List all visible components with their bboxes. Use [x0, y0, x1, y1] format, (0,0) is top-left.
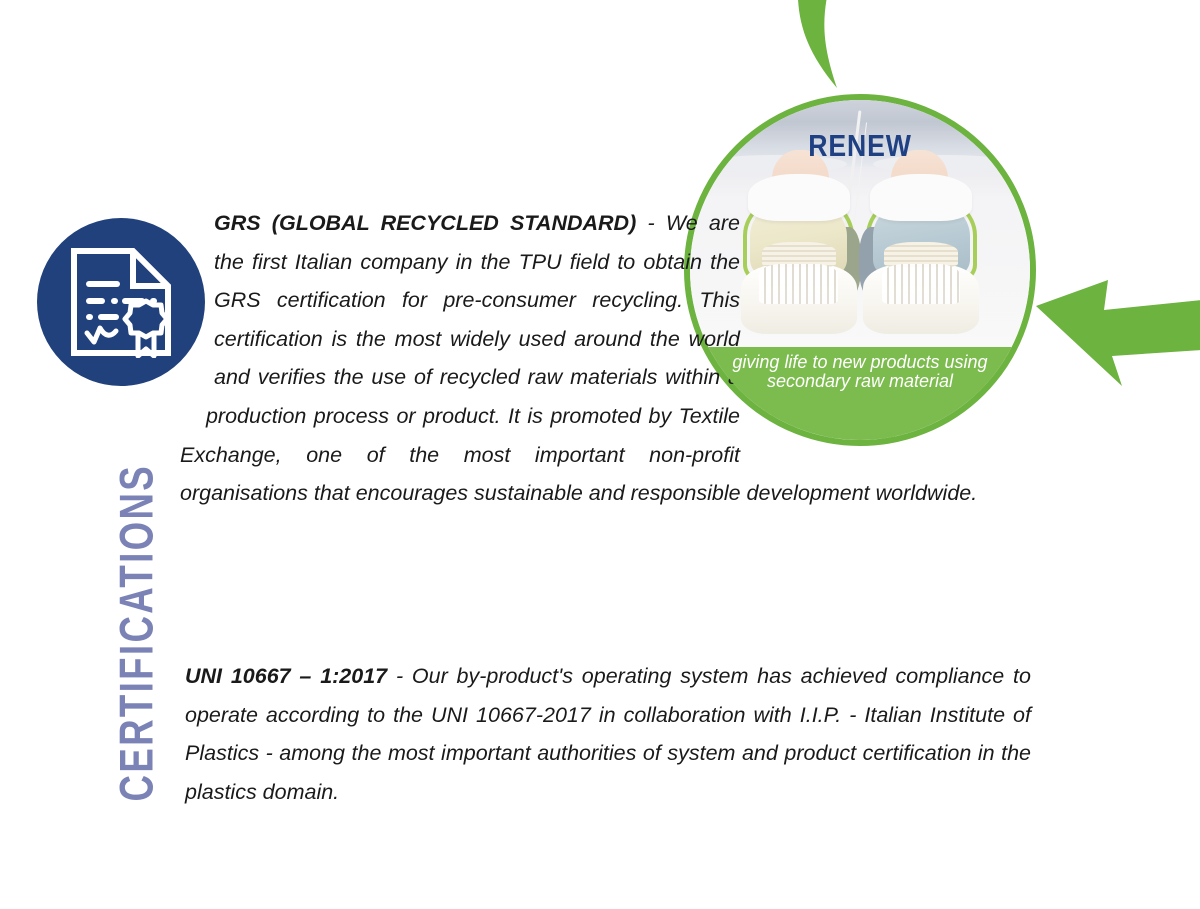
paragraph-uni-lead: UNI 10667 – 1:2017: [185, 664, 387, 688]
paragraph-uni: UNI 10667 – 1:2017 - Our by-product's op…: [185, 657, 1031, 811]
green-swoosh-arrow-tail: [780, 0, 910, 104]
slide-canvas: CERTIFICATIONS: [0, 0, 1200, 909]
section-title-certifications: CERTIFICATIONS: [113, 490, 160, 802]
green-left-pointing-arrow: [1030, 258, 1200, 388]
paragraph-grs-lead: GRS (GLOBAL RECYCLED STANDARD): [214, 211, 636, 235]
renew-caption-band: giving life to new products using second…: [690, 347, 1030, 441]
renew-label: RENEW: [714, 128, 1006, 164]
renew-caption: giving life to new products using second…: [717, 353, 1003, 391]
